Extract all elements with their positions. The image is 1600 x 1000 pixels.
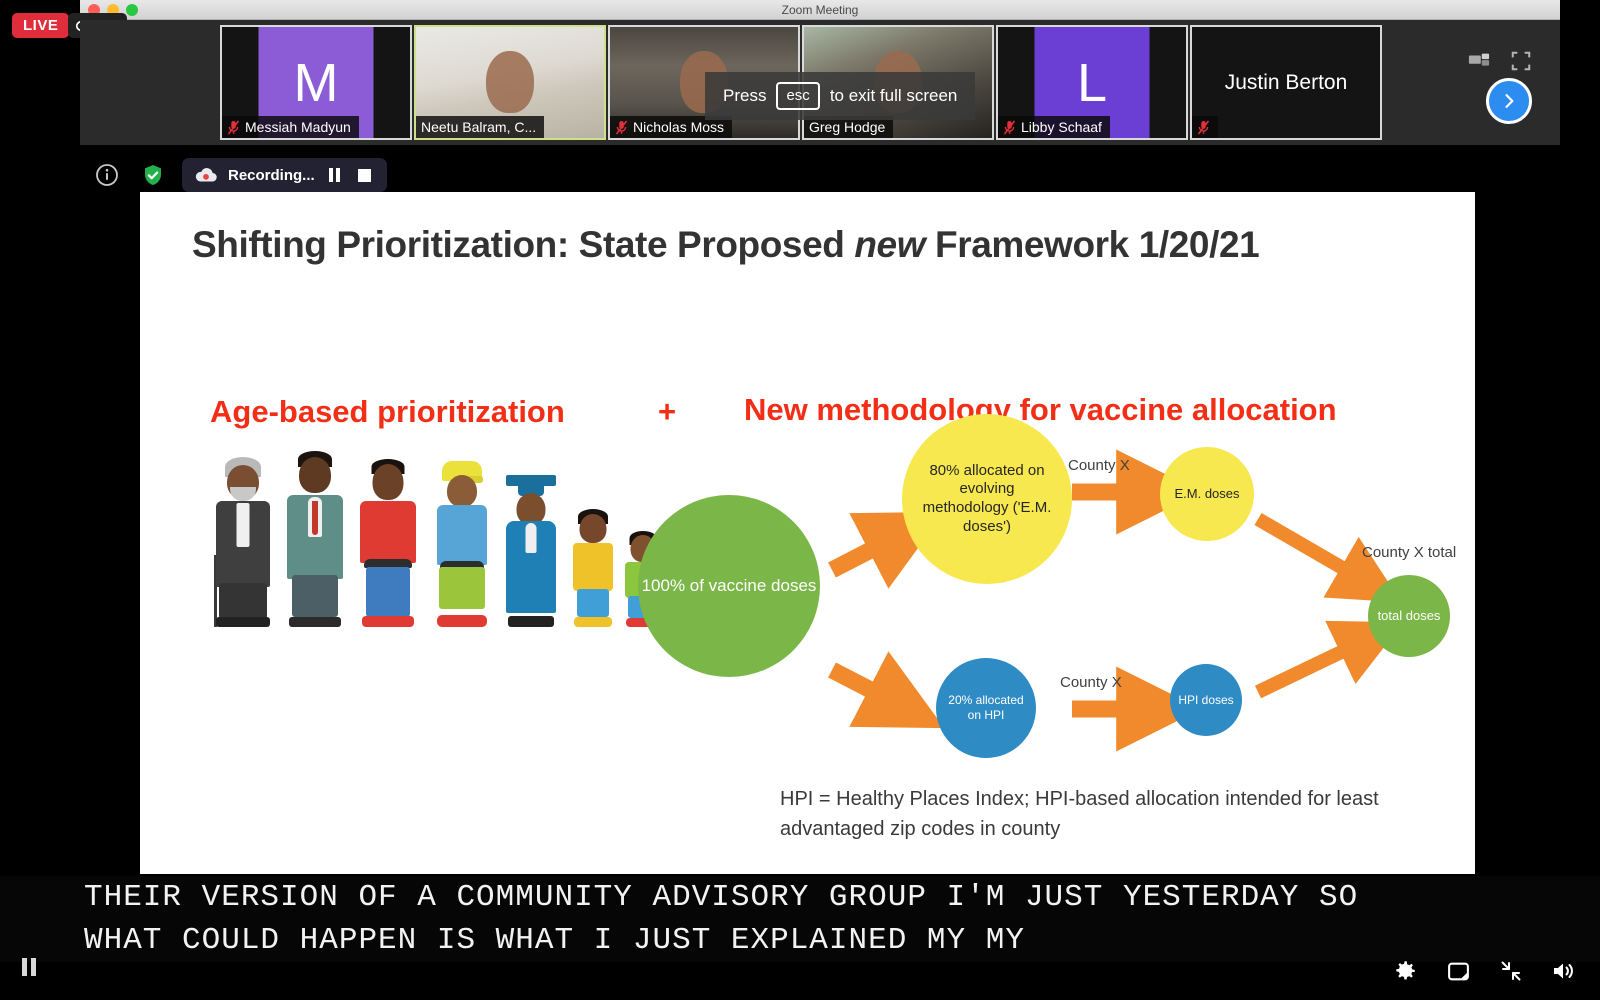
gear-icon[interactable] bbox=[1392, 958, 1418, 984]
zoom-meeting-screen: Zoom Meeting LIVE 75 MMessiah MadyunNeet… bbox=[0, 0, 1600, 1000]
live-captions: THEIR VERSION OF A COMMUNITY ADVISORY GR… bbox=[0, 876, 1600, 962]
slide-title-after: Framework 1/20/21 bbox=[925, 224, 1259, 265]
maximize-window-button[interactable] bbox=[126, 4, 138, 16]
chevron-right-icon bbox=[1499, 91, 1519, 111]
shared-slide: Shifting Prioritization: State Proposed … bbox=[140, 192, 1475, 874]
caption-line-2: WHAT COULD HAPPEN IS WHAT I JUST EXPLAIN… bbox=[84, 919, 1600, 962]
node-county-total-doses: total doses bbox=[1368, 575, 1450, 657]
participant-name-label: Messiah Madyun bbox=[222, 116, 359, 138]
label-county-x-total: County X total bbox=[1362, 544, 1456, 561]
participant-face bbox=[486, 51, 534, 113]
group-of-people-by-age-illustration bbox=[202, 437, 602, 627]
security-button[interactable] bbox=[136, 158, 170, 192]
node-hpi-allocation-label: 20% allocated on HPI bbox=[946, 693, 1026, 723]
hint-suffix: to exit full screen bbox=[830, 86, 958, 106]
meeting-info-button[interactable] bbox=[90, 158, 124, 192]
recording-status-pill[interactable]: Recording... bbox=[182, 158, 387, 192]
slide-title-before: Shifting Prioritization: State Proposed bbox=[192, 224, 854, 265]
person-young-adult-cap bbox=[432, 461, 492, 627]
volume-icon[interactable] bbox=[1551, 959, 1578, 983]
hpi-footnote: HPI = Healthy Places Index; HPI-based al… bbox=[780, 784, 1420, 844]
participant-name-label: Neetu Balram, C... bbox=[416, 116, 544, 138]
edge-label-county-x-bottom: County X bbox=[1060, 674, 1122, 691]
node-total-vaccine-doses: 100% of vaccine doses bbox=[638, 495, 820, 677]
pause-icon bbox=[20, 956, 38, 978]
slide-title: Shifting Prioritization: State Proposed … bbox=[192, 224, 1455, 266]
person-adult-red-shirt bbox=[358, 459, 418, 627]
microphone-muted-icon bbox=[227, 120, 240, 135]
node-em-doses-county: E.M. doses bbox=[1160, 447, 1254, 541]
person-elder bbox=[212, 457, 274, 627]
edge-label-county-x-top: County X bbox=[1068, 457, 1130, 474]
pause-recording-button[interactable] bbox=[325, 165, 345, 185]
participant-tile[interactable]: LLibby Schaaf bbox=[996, 25, 1188, 140]
node-hpi-doses-county: HPI doses bbox=[1170, 664, 1242, 736]
participant-name-label bbox=[1192, 116, 1218, 138]
next-participants-page-button[interactable] bbox=[1486, 78, 1532, 124]
cloud-recording-icon bbox=[194, 166, 218, 184]
microphone-muted-icon bbox=[1197, 120, 1210, 135]
esc-key-cap: esc bbox=[776, 82, 819, 110]
participant-tile[interactable]: Justin Berton bbox=[1190, 25, 1382, 140]
node-hpi-allocation: 20% allocated on HPI bbox=[936, 658, 1036, 758]
stop-recording-button[interactable] bbox=[355, 165, 375, 185]
closed-captions-icon[interactable] bbox=[1446, 959, 1471, 984]
node-county-total-doses-label: total doses bbox=[1378, 608, 1441, 624]
participant-tile[interactable]: Neetu Balram, C... bbox=[414, 25, 606, 140]
participant-filmstrip: MMessiah MadyunNeetu Balram, C...Nichola… bbox=[80, 20, 1560, 145]
participant-name-text: Messiah Madyun bbox=[245, 119, 351, 135]
heading-plus-symbol: + bbox=[658, 394, 676, 430]
live-badge: LIVE bbox=[12, 13, 69, 38]
window-title: Zoom Meeting bbox=[782, 3, 859, 17]
microphone-muted-icon bbox=[1003, 120, 1016, 135]
participant-name-label: Libby Schaaf bbox=[998, 116, 1110, 138]
person-child bbox=[570, 509, 616, 627]
heading-new-methodology: New methodology for vaccine allocation bbox=[744, 392, 1337, 428]
exit-fullscreen-hint: Press esc to exit full screen bbox=[705, 72, 975, 120]
recording-status-label: Recording... bbox=[228, 167, 315, 184]
node-em-allocation: 80% allocated on evolving methodology ('… bbox=[902, 414, 1072, 584]
exit-fullscreen-icon[interactable] bbox=[1499, 959, 1523, 983]
info-icon bbox=[95, 163, 119, 187]
security-shield-icon bbox=[141, 163, 165, 187]
participant-name-text: Libby Schaaf bbox=[1021, 119, 1102, 135]
node-em-doses-county-label: E.M. doses bbox=[1174, 486, 1239, 502]
participant-name-placeholder: Justin Berton bbox=[1192, 27, 1380, 138]
filmstrip-view-controls[interactable] bbox=[1468, 50, 1532, 72]
participant-tile[interactable]: MMessiah Madyun bbox=[220, 25, 412, 140]
person-adult-suit bbox=[284, 451, 346, 627]
node-em-allocation-label: 80% allocated on evolving methodology ('… bbox=[920, 462, 1054, 537]
participant-name-text: Neetu Balram, C... bbox=[421, 119, 536, 135]
hint-prefix: Press bbox=[723, 86, 766, 106]
person-graduate bbox=[502, 475, 560, 627]
slide-title-italic: new bbox=[854, 224, 925, 265]
node-total-vaccine-doses-label: 100% of vaccine doses bbox=[642, 575, 817, 596]
player-pause-button[interactable] bbox=[14, 952, 44, 982]
fullscreen-icon[interactable] bbox=[1510, 50, 1532, 72]
heading-age-based: Age-based prioritization bbox=[210, 394, 565, 430]
window-title-bar: Zoom Meeting bbox=[80, 0, 1560, 20]
node-hpi-doses-county-label: HPI doses bbox=[1178, 693, 1233, 708]
microphone-muted-icon bbox=[615, 120, 628, 135]
recording-bar: Recording... bbox=[90, 158, 387, 192]
caption-line-1: THEIR VERSION OF A COMMUNITY ADVISORY GR… bbox=[84, 876, 1600, 919]
participant-name-text: Nicholas Moss bbox=[633, 119, 724, 135]
player-controls[interactable] bbox=[1392, 958, 1578, 984]
gallery-view-icon[interactable] bbox=[1468, 50, 1490, 72]
participant-name-text: Greg Hodge bbox=[809, 119, 885, 135]
